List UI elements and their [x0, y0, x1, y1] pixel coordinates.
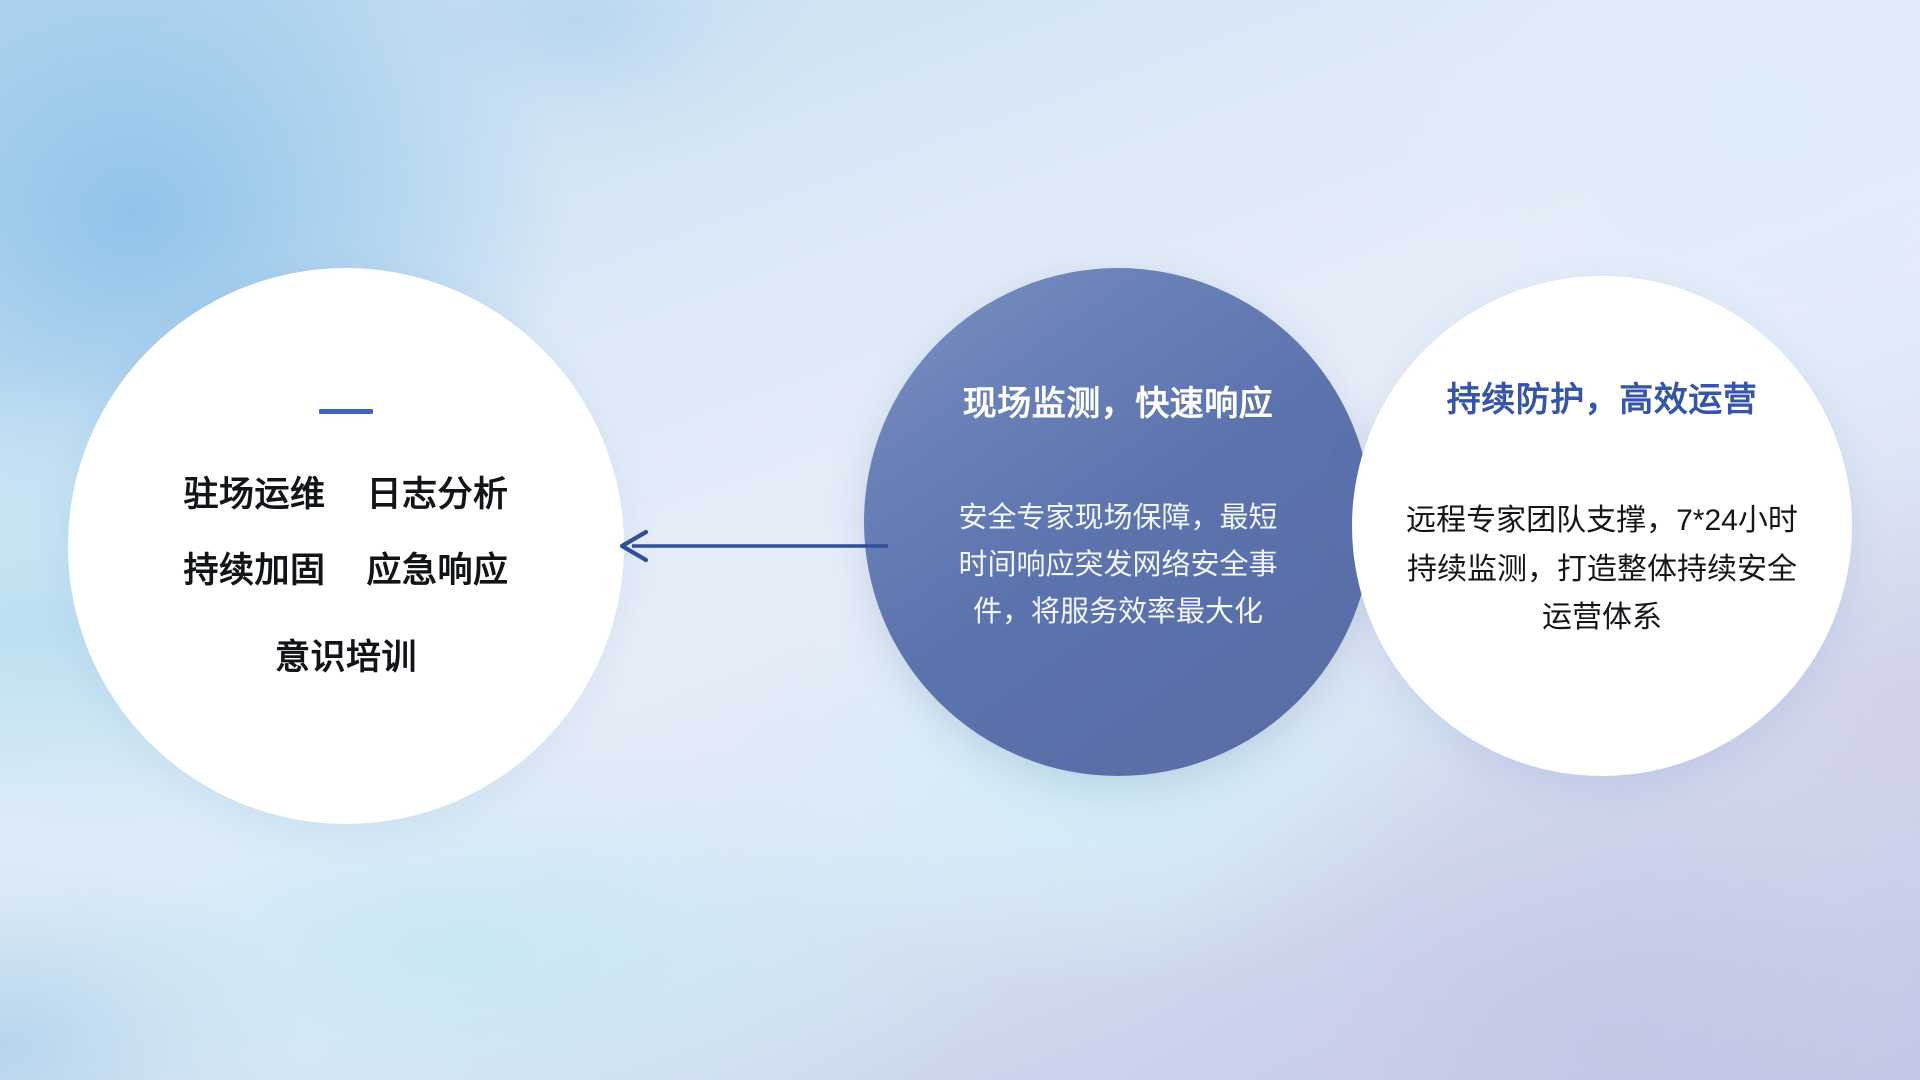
continuous-protection-heading: 持续防护，高效运营 — [1447, 372, 1758, 421]
continuous-protection-content: 持续防护，高效运营 远程专家团队支撑，7*24小时持续监测，打造整体持续安全运营… — [1352, 276, 1852, 776]
continuous-protection-circle: 持续防护，高效运营 远程专家团队支撑，7*24小时持续监测，打造整体持续安全运营… — [1352, 276, 1852, 776]
capabilities-content: 驻场运维 日志分析 持续加固 应急响应 意识培训 — [68, 268, 624, 824]
diagram-canvas: 驻场运维 日志分析 持续加固 应急响应 意识培训 现场监测，快速响应 安全专家现… — [0, 0, 1920, 1080]
continuous-protection-body: 远程专家团队支撑，7*24小时持续监测，打造整体持续安全运营体系 — [1397, 497, 1807, 643]
capability-row-1: 驻场运维 日志分析 — [184, 470, 509, 520]
capability-row-2: 持续加固 应急响应 — [184, 546, 509, 596]
capabilities-circle: 驻场运维 日志分析 持续加固 应急响应 意识培训 — [68, 268, 624, 824]
onsite-monitoring-content: 现场监测，快速响应 安全专家现场保障，最短时间响应突发网络安全事件，将服务效率最… — [864, 268, 1372, 776]
capability-row-3: 意识培训 — [275, 633, 417, 683]
flow-arrow-left-icon — [600, 516, 890, 576]
onsite-monitoring-heading: 现场监测，快速响应 — [963, 376, 1274, 425]
onsite-monitoring-body: 安全专家现场保障，最短时间响应突发网络安全事件，将服务效率最大化 — [958, 495, 1278, 636]
accent-dash-divider — [319, 409, 373, 414]
onsite-monitoring-circle: 现场监测，快速响应 安全专家现场保障，最短时间响应突发网络安全事件，将服务效率最… — [864, 268, 1372, 776]
